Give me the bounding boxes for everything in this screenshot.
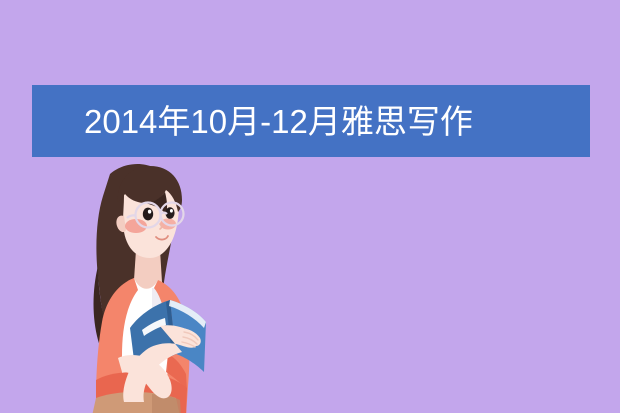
title-banner: 2014年10月-12月雅思写作: [32, 85, 590, 157]
eye-left-highlight: [148, 210, 151, 214]
eye-left: [143, 208, 153, 221]
girl-reading-book-illustration: [48, 158, 218, 413]
slide-canvas: 2014年10月-12月雅思写作: [0, 0, 620, 413]
eye-right-highlight: [170, 209, 173, 213]
girl-reading-book-icon: [48, 158, 218, 413]
page-title: 2014年10月-12月雅思写作: [84, 105, 473, 138]
